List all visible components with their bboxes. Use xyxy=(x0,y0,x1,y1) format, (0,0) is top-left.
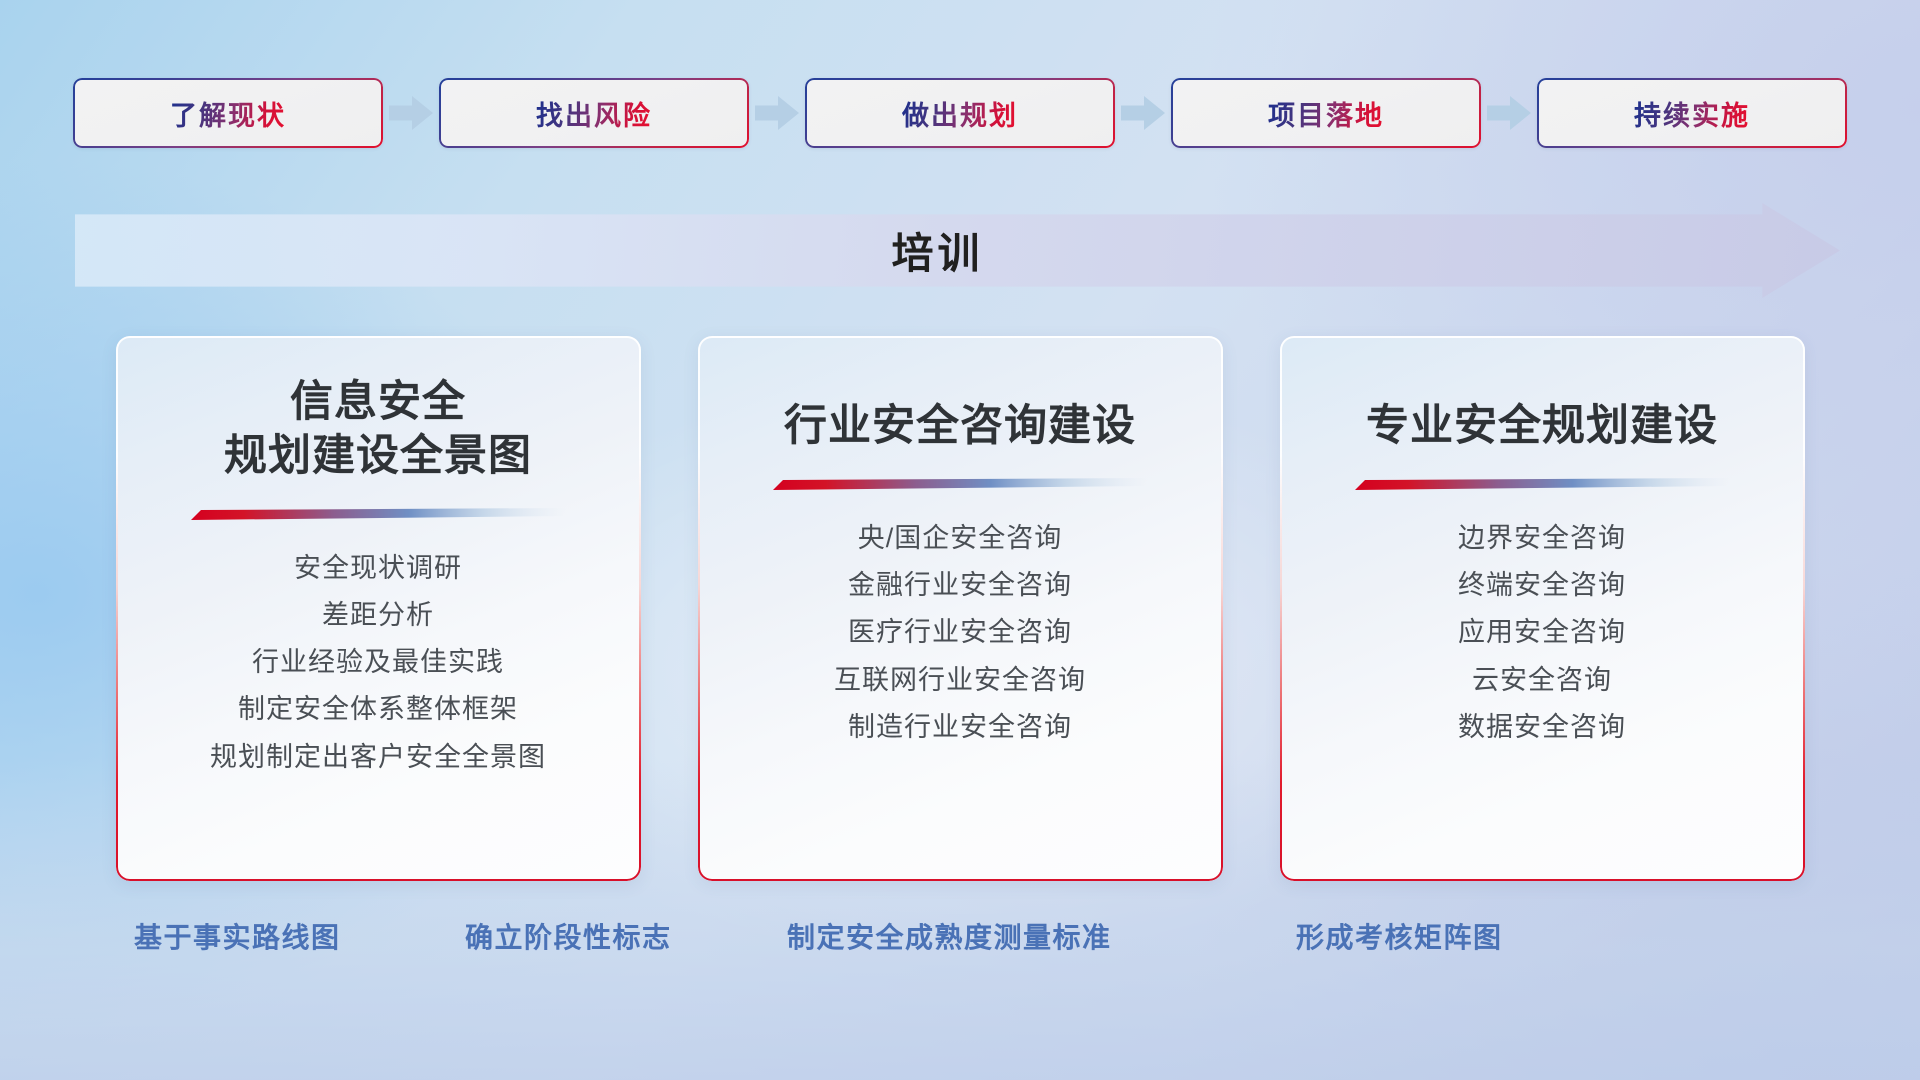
card-divider xyxy=(191,508,566,521)
list-item: 央/国企安全咨询 xyxy=(858,519,1063,557)
right-arrow-icon xyxy=(749,78,805,148)
step-chip-4[interactable]: 持续实施 xyxy=(1537,78,1847,148)
step-label-0: 了解现状 xyxy=(170,94,286,133)
training-banner: 培训 xyxy=(75,203,1840,298)
card-list: 央/国企安全咨询 金融行业安全咨询 医疗行业安全咨询 互联网行业安全咨询 制造行… xyxy=(834,519,1086,747)
card-divider xyxy=(1355,478,1730,491)
caption-1: 确立阶段性标志 xyxy=(465,916,672,956)
caption-0: 基于事实路线图 xyxy=(134,916,341,956)
step-label-2: 做出规划 xyxy=(902,94,1018,133)
step-label-3: 项目落地 xyxy=(1268,94,1384,133)
list-item: 应用安全咨询 xyxy=(1458,613,1626,651)
card-information-security[interactable]: 信息安全 规划建设全景图 xyxy=(116,336,641,881)
card-list: 安全现状调研 差距分析 行业经验及最佳实践 制定安全体系整体框架 规划制定出客户… xyxy=(210,549,546,777)
right-arrow-icon xyxy=(1115,78,1171,148)
card-title: 行业安全咨询建设 xyxy=(784,400,1136,454)
card-industry-security-consulting[interactable]: 行业安全咨询建设 xyxy=(698,336,1223,881)
list-item: 金融行业安全咨询 xyxy=(848,566,1072,604)
list-item: 边界安全咨询 xyxy=(1458,519,1626,557)
step-chip-2[interactable]: 做出规划 xyxy=(805,78,1115,148)
list-item: 终端安全咨询 xyxy=(1458,566,1626,604)
list-item: 数据安全咨询 xyxy=(1458,708,1626,746)
list-item: 规划制定出客户安全全景图 xyxy=(210,738,546,776)
caption-2: 制定安全成熟度测量标准 xyxy=(787,916,1112,956)
step-chip-1[interactable]: 找出风险 xyxy=(439,78,749,148)
step-chip-3[interactable]: 项目落地 xyxy=(1171,78,1481,148)
process-step-row: 了解现状 找出风险 做出规划 项目落地 持续实施 xyxy=(0,78,1920,148)
card-professional-security-planning[interactable]: 专业安全规划建设 xyxy=(1280,336,1805,881)
card-divider xyxy=(773,478,1148,491)
list-item: 差距分析 xyxy=(322,596,434,634)
list-item: 制造行业安全咨询 xyxy=(848,708,1072,746)
step-label-4: 持续实施 xyxy=(1634,94,1750,133)
caption-row: 基于事实路线图 确立阶段性标志 制定安全成熟度测量标准 形成考核矩阵图 xyxy=(0,916,1920,966)
card-title: 专业安全规划建设 xyxy=(1366,400,1718,454)
caption-3: 形成考核矩阵图 xyxy=(1296,916,1503,956)
card-row: 信息安全 规划建设全景图 xyxy=(0,336,1920,881)
step-chip-0[interactable]: 了解现状 xyxy=(73,78,383,148)
list-item: 互联网行业安全咨询 xyxy=(834,661,1086,699)
banner-title: 培训 xyxy=(891,220,983,281)
list-item: 制定安全体系整体框架 xyxy=(238,690,518,728)
list-item: 安全现状调研 xyxy=(294,549,462,587)
right-arrow-icon xyxy=(383,78,439,148)
card-list: 边界安全咨询 终端安全咨询 应用安全咨询 云安全咨询 数据安全咨询 xyxy=(1458,519,1626,747)
list-item: 行业经验及最佳实践 xyxy=(252,643,504,681)
right-arrow-icon xyxy=(1481,78,1537,148)
step-label-1: 找出风险 xyxy=(536,94,652,133)
list-item: 医疗行业安全咨询 xyxy=(848,613,1072,651)
card-title: 信息安全 规划建设全景图 xyxy=(224,376,532,484)
list-item: 云安全咨询 xyxy=(1472,661,1612,699)
